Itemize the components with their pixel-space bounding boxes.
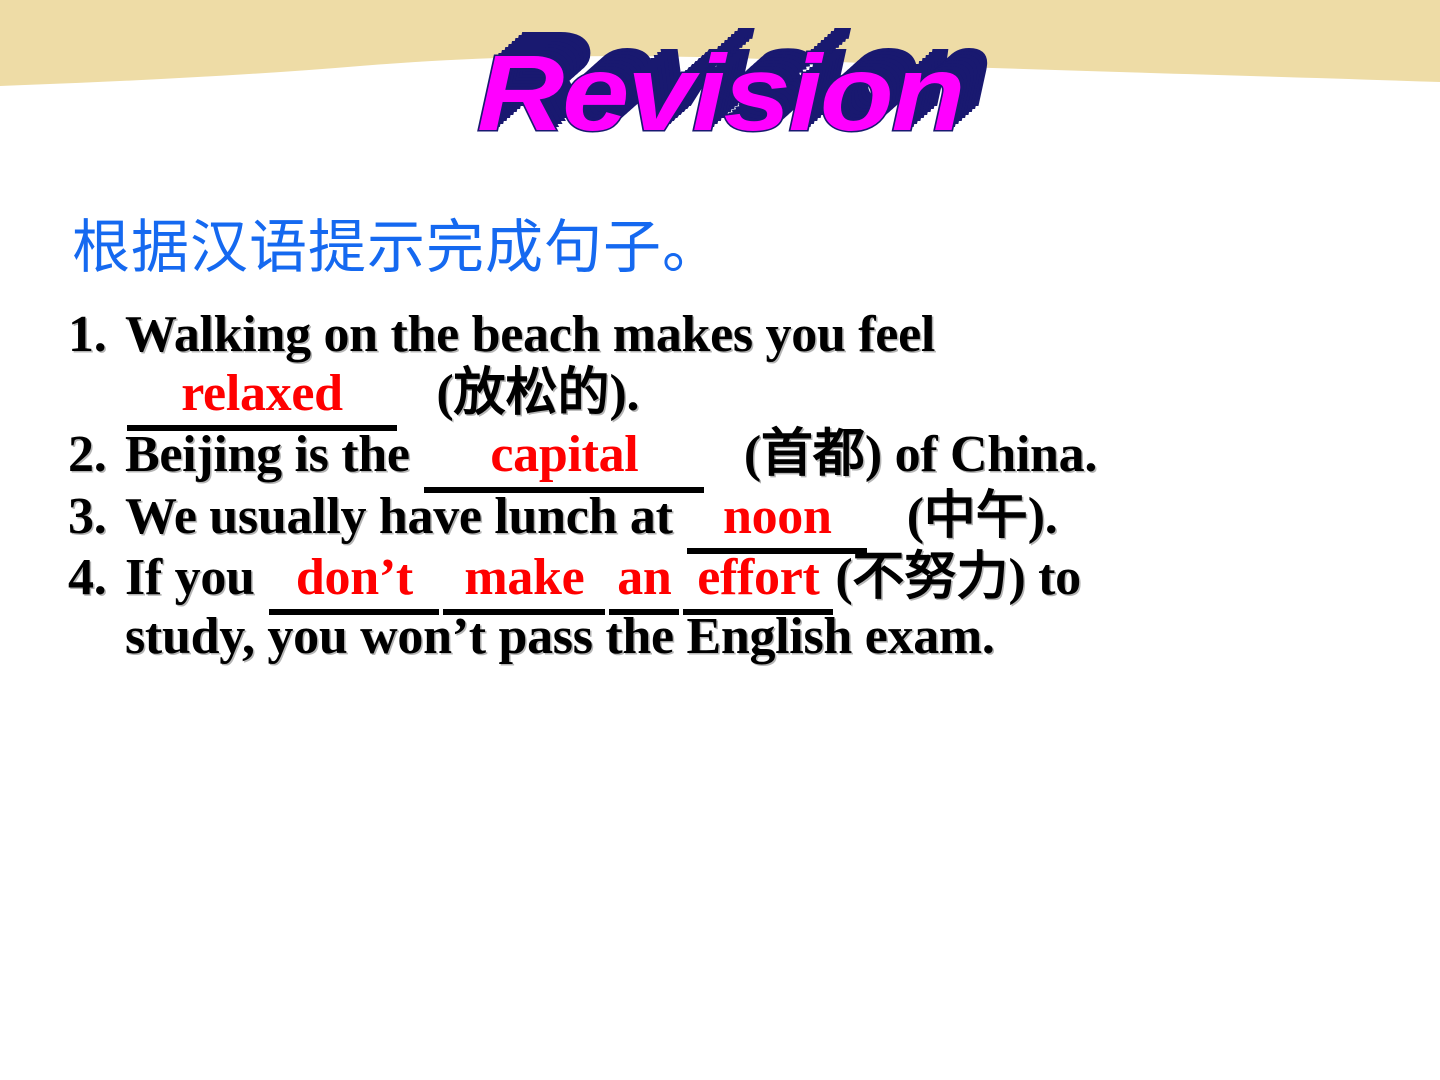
question-2-line-1: Beijing is the capital (首都) of China. (125, 425, 1400, 484)
slide-content: 根据汉语提示完成句子。 1. Walking on the beach make… (60, 218, 1400, 668)
q1-chinese-gloss: 放松的 (453, 365, 609, 422)
q2-open-paren: ( (744, 426, 761, 483)
answer-blank-2[interactable]: capital (424, 425, 704, 484)
q2-text-before: Beijing is the (125, 426, 410, 483)
instruction-prompt: 根据汉语提示完成句子。 (72, 218, 1400, 279)
answer-blank-3[interactable]: noon (687, 487, 867, 546)
q2-chinese-gloss: 首都 (761, 426, 865, 483)
q1-open-paren: ( (436, 365, 453, 422)
question-number-1: 1. (68, 305, 106, 364)
answer-blank-1[interactable]: relaxed (127, 364, 397, 423)
q4-open-paren: ( (835, 549, 852, 606)
question-number-2: 2. (68, 425, 106, 484)
question-item-2: 2. Beijing is the capital (首都) of China. (60, 425, 1400, 484)
q4-chinese-gloss: 不努力 (852, 549, 1008, 606)
question-number-3: 3. (68, 487, 106, 546)
question-item-1: 1. Walking on the beach makes you feel r… (60, 305, 1400, 424)
answer-blank-4c[interactable]: an (609, 548, 679, 607)
q3-text-after: ). (1028, 488, 1058, 545)
answer-blank-4b[interactable]: make (443, 548, 605, 607)
answer-blank-4a[interactable]: don’t (269, 548, 439, 607)
q3-text-before: We usually have lunch at (125, 488, 673, 545)
question-4-line-2: study, you won’t pass the English exam. (125, 607, 1400, 666)
question-number-4: 4. (68, 548, 106, 607)
answer-blank-4d[interactable]: effort (683, 548, 833, 607)
q4-text-after: ) to (1008, 549, 1080, 606)
question-4-line-1: If you don’tmakeaneffort(不努力) to (125, 548, 1400, 607)
slide-title-area: Revision (0, 36, 1440, 186)
q3-open-paren: ( (907, 488, 924, 545)
question-1-line-2: relaxed (放松的). (125, 364, 1400, 423)
question-list: 1. Walking on the beach makes you feel r… (60, 305, 1400, 667)
question-item-3: 3. We usually have lunch at noon (中午). (60, 487, 1400, 546)
page-title: Revision (477, 36, 963, 149)
question-item-4: 4. If you don’tmakeaneffort(不努力) to stud… (60, 548, 1400, 667)
q2-text-after: ) of China. (865, 426, 1097, 483)
q4-text-before: If you (125, 549, 255, 606)
question-1-line-1: Walking on the beach makes you feel (125, 305, 1400, 364)
q3-chinese-gloss: 中午 (924, 488, 1028, 545)
question-3-line-1: We usually have lunch at noon (中午). (125, 487, 1400, 546)
q1-close-paren: ). (609, 365, 639, 422)
